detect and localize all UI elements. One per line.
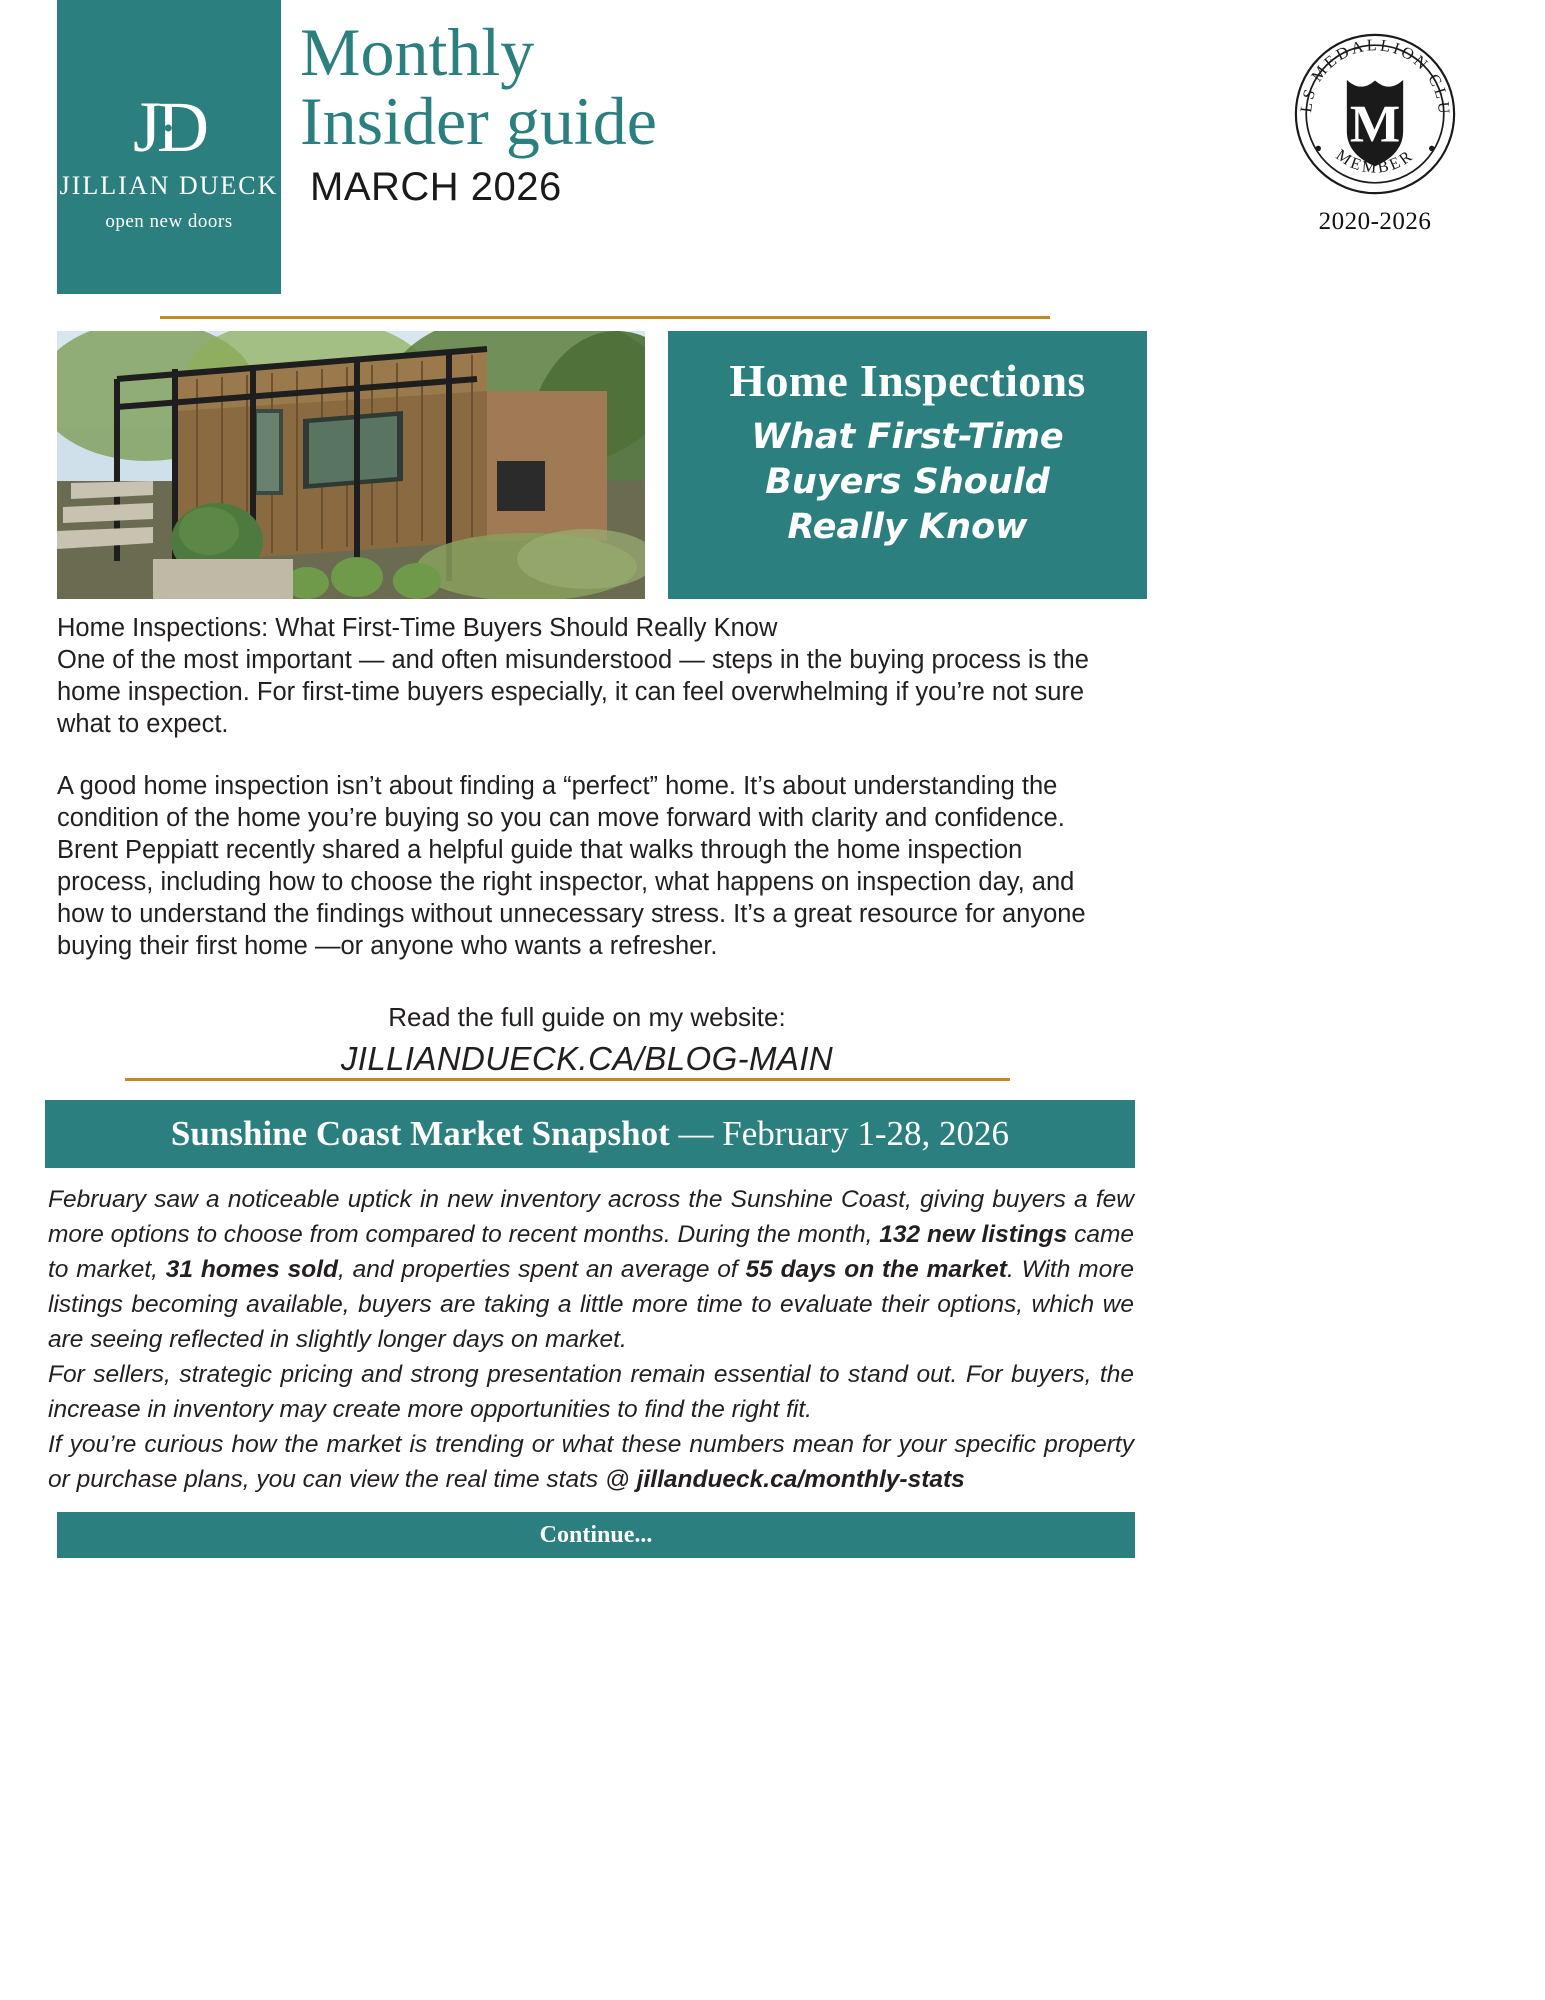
masthead-title: Monthly Insider guide MARCH 2026 bbox=[300, 18, 657, 210]
feature-section: Home Inspections What First-Time Buyers … bbox=[57, 331, 1147, 599]
monogram-logo: JD bbox=[133, 91, 205, 163]
snapshot-paragraph-1: February saw a noticeable uptick in new … bbox=[48, 1182, 1134, 1357]
mls-medallion-badge: MLS MEDALLION CLUB MEMBER M 2020-2026 bbox=[1260, 28, 1490, 236]
svg-text:M: M bbox=[1350, 94, 1400, 154]
medallion-club-seal-icon: MLS MEDALLION CLUB MEMBER M bbox=[1289, 28, 1461, 200]
brand-logo-block: JD JILLIAN DUECK open new doors bbox=[57, 0, 281, 294]
snapshot-title-bold: Sunshine Coast Market Snapshot bbox=[171, 1114, 670, 1153]
issue-date: MARCH 2026 bbox=[310, 165, 657, 210]
monogram-dot-icon bbox=[165, 125, 172, 132]
divider-gold-top bbox=[160, 316, 1050, 319]
cta-website-link[interactable]: JILLIANDUECK.CA/BLOG-MAIN bbox=[57, 1040, 1117, 1078]
paragraph-spacer bbox=[57, 740, 1117, 770]
divider-gold-bottom bbox=[125, 1078, 1010, 1081]
page-header: JD JILLIAN DUECK open new doors Monthly … bbox=[0, 0, 1545, 300]
stat-homes-sold: 31 homes sold bbox=[166, 1256, 338, 1283]
continue-footer[interactable]: Continue... bbox=[57, 1512, 1135, 1558]
market-snapshot-header: Sunshine Coast Market Snapshot — Februar… bbox=[45, 1100, 1135, 1168]
snapshot-title-period: — February 1-28, 2026 bbox=[670, 1114, 1009, 1153]
stat-days-on-market: 55 days on the market bbox=[746, 1256, 1007, 1283]
snapshot-paragraph-3: If you’re curious how the market is tren… bbox=[48, 1427, 1134, 1497]
article-paragraph-1: One of the most important — and often mi… bbox=[57, 644, 1117, 740]
feature-photo bbox=[57, 331, 645, 599]
continue-label: Continue... bbox=[540, 1522, 653, 1549]
article-body: Home Inspections: What First-Time Buyers… bbox=[57, 612, 1117, 962]
brand-tagline: open new doors bbox=[105, 211, 232, 233]
subheadline-line-1: What First-Time bbox=[751, 415, 1063, 460]
snapshot-p3-a: If you’re curious how the market is tren… bbox=[48, 1431, 1134, 1493]
article-paragraph-2: A good home inspection isn’t about findi… bbox=[57, 770, 1117, 962]
snapshot-p1-c: , and properties spent an average of bbox=[338, 1256, 746, 1283]
snapshot-paragraph-2: For sellers, strategic pricing and stron… bbox=[48, 1357, 1134, 1427]
article-title: Home Inspections: What First-Time Buyers… bbox=[57, 612, 1117, 644]
market-snapshot-title: Sunshine Coast Market Snapshot — Februar… bbox=[171, 1114, 1009, 1154]
feature-headline: Home Inspections bbox=[729, 357, 1085, 405]
title-line-1: Monthly bbox=[300, 18, 657, 87]
brand-name: JILLIAN DUECK bbox=[60, 171, 279, 201]
market-snapshot-body: February saw a noticeable uptick in new … bbox=[48, 1182, 1134, 1497]
house-photo-illustration bbox=[57, 331, 645, 599]
cta-lead-text: Read the full guide on my website: bbox=[57, 1000, 1117, 1034]
subheadline-line-3: Really Know bbox=[751, 505, 1063, 550]
title-line-2: Insider guide bbox=[300, 87, 657, 156]
feature-subheadline: What First-Time Buyers Should Really Kno… bbox=[751, 415, 1063, 549]
feature-headline-box: Home Inspections What First-Time Buyers … bbox=[668, 331, 1147, 599]
subheadline-line-2: Buyers Should bbox=[751, 460, 1063, 505]
badge-years: 2020-2026 bbox=[1260, 208, 1490, 236]
stat-new-listings: 132 new listings bbox=[879, 1221, 1067, 1248]
newsletter-page: JD JILLIAN DUECK open new doors Monthly … bbox=[0, 0, 1545, 2000]
cta-section: Read the full guide on my website: JILLI… bbox=[57, 1000, 1117, 1078]
monthly-stats-link[interactable]: jillandueck.ca/monthly-stats bbox=[637, 1466, 965, 1493]
